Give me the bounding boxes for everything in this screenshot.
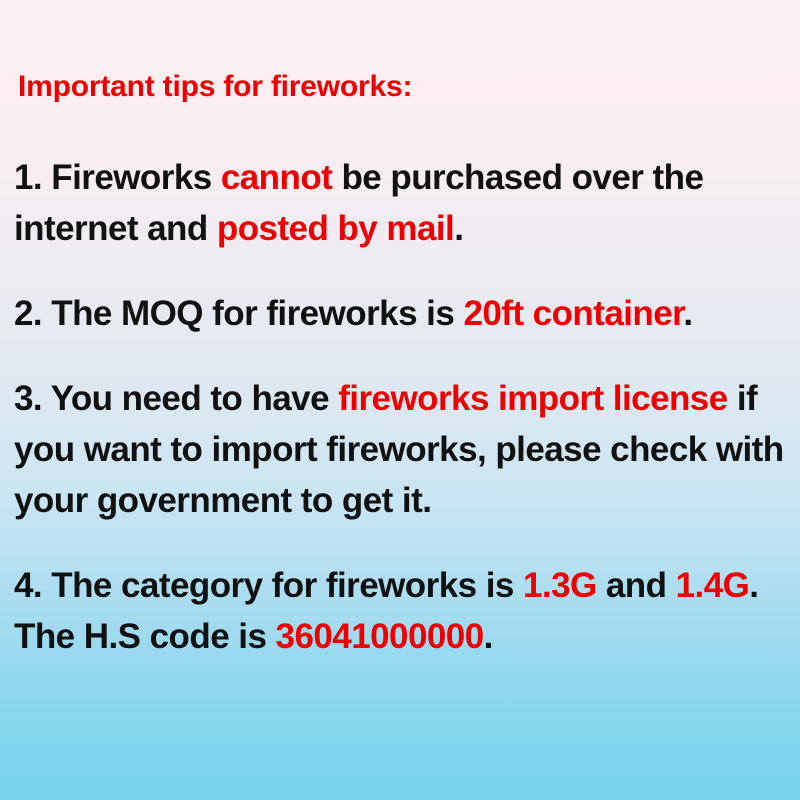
tip-text: . xyxy=(683,294,692,333)
page-title: Important tips for fireworks: xyxy=(18,70,412,104)
tip-item: 3. You need to have fireworks import lic… xyxy=(14,373,789,526)
tips-list: 1. Fireworks cannot be purchased over th… xyxy=(14,152,789,662)
tip-number: 1. xyxy=(14,158,42,197)
tip-text: You need to have xyxy=(42,379,338,418)
tip-highlight-text: cannot xyxy=(221,158,332,197)
tip-text: . xyxy=(454,209,463,248)
tip-text: The MOQ for fireworks is xyxy=(42,294,463,333)
tip-highlight-text: 1.3G xyxy=(523,566,597,605)
tip-text: . xyxy=(484,617,493,656)
tip-number: 2. xyxy=(14,294,42,333)
tip-highlight-text: 36041000000 xyxy=(276,617,484,656)
tip-number: 4. xyxy=(14,566,42,605)
tip-number: 3. xyxy=(14,379,42,418)
tip-highlight-text: posted by mail xyxy=(217,209,454,248)
fireworks-tips-page: Important tips for fireworks: 1. Firewor… xyxy=(0,0,800,800)
tip-text: Fireworks xyxy=(42,158,221,197)
tip-highlight-text: 1.4G xyxy=(676,566,750,605)
tip-item: 4. The category for fireworks is 1.3G an… xyxy=(14,560,789,662)
tip-text: and xyxy=(597,566,676,605)
tip-item: 2. The MOQ for fireworks is 20ft contain… xyxy=(14,288,789,339)
tip-text: The category for fireworks is xyxy=(42,566,523,605)
tip-item: 1. Fireworks cannot be purchased over th… xyxy=(14,152,789,254)
tip-highlight-text: fireworks import license xyxy=(338,379,727,418)
tip-highlight-text: 20ft container xyxy=(463,294,683,333)
